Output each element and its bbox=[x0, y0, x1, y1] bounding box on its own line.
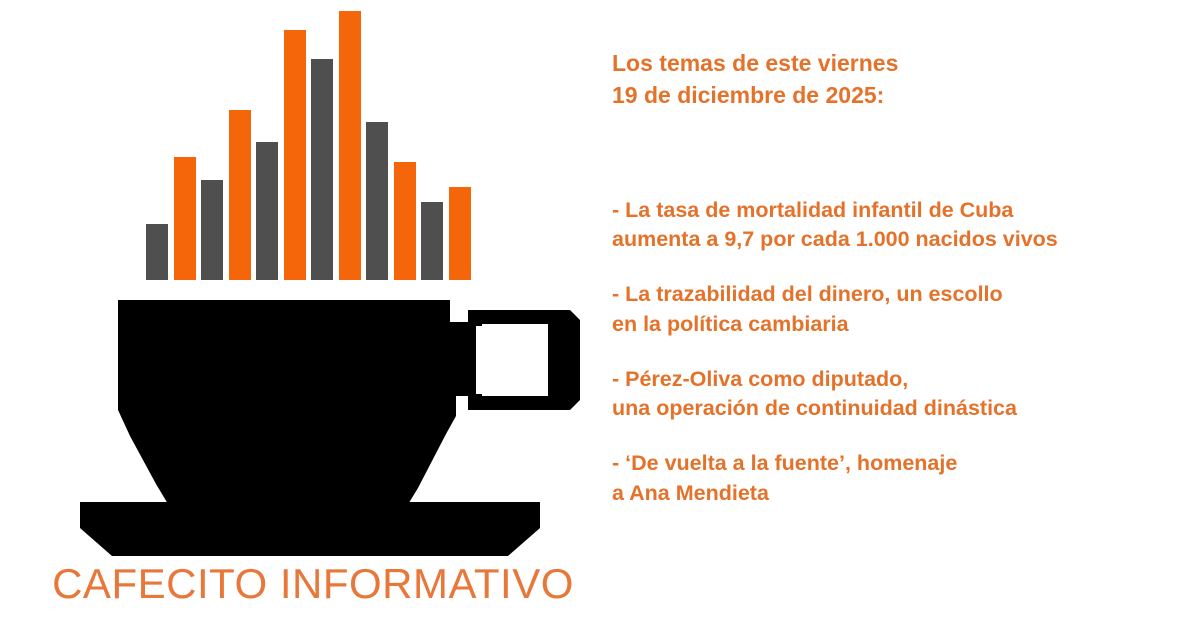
topic-list: - La tasa de mortalidad infantil de Cuba… bbox=[612, 196, 1187, 508]
chart-bar bbox=[449, 187, 471, 280]
chart-bar bbox=[229, 110, 251, 280]
poster-canvas: CAFECITO INFORMATIVO Los temas de este v… bbox=[0, 0, 1200, 628]
logo-wordmark: CAFECITO INFORMATIVO bbox=[0, 563, 600, 605]
topic-item: - Pérez-Oliva como diputado, una operaci… bbox=[612, 365, 1187, 423]
saucer-shape bbox=[80, 502, 540, 556]
cup-handle-hole bbox=[482, 324, 548, 396]
chart-bar bbox=[201, 180, 223, 280]
chart-bar bbox=[339, 11, 361, 280]
coffee-cup-icon bbox=[78, 288, 590, 564]
chart-bar bbox=[174, 157, 196, 280]
topic-item: - La tasa de mortalidad infantil de Cuba… bbox=[612, 196, 1187, 254]
chart-bar bbox=[394, 162, 416, 280]
topics-panel: Los temas de este viernes 19 de diciembr… bbox=[612, 0, 1192, 628]
chart-bar bbox=[146, 224, 168, 280]
topic-item: - ‘De vuelta a la fuente’, homenaje a An… bbox=[612, 449, 1187, 507]
topic-item: - La trazabilidad del dinero, un escollo… bbox=[612, 280, 1187, 338]
chart-bar bbox=[366, 122, 388, 280]
chart-bar bbox=[311, 59, 333, 280]
logo-bar-chart bbox=[146, 0, 466, 280]
chart-bar bbox=[284, 30, 306, 280]
chart-bar bbox=[421, 202, 443, 280]
cup-body-shape bbox=[118, 300, 476, 524]
chart-bar bbox=[256, 142, 278, 280]
headline: Los temas de este viernes 19 de diciembr… bbox=[612, 48, 1172, 111]
cafecito-logo: CAFECITO INFORMATIVO bbox=[0, 0, 600, 628]
